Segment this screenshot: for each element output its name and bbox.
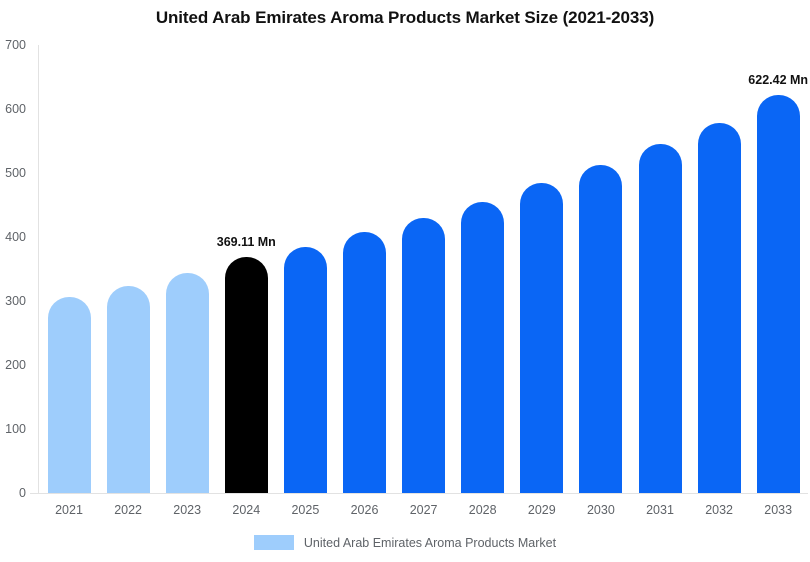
y-axis-tick-label: 600 <box>0 102 26 116</box>
bar-2029[interactable] <box>520 183 563 493</box>
x-axis-tick-label-2027: 2027 <box>410 503 438 517</box>
bar-2021[interactable] <box>48 297 91 493</box>
bar-chart-container: United Arab Emirates Aroma Products Mark… <box>0 0 810 562</box>
x-axis-tick-label-2024: 2024 <box>232 503 260 517</box>
bar-value-label-2024: 369.11 Mn <box>217 235 276 249</box>
x-axis-tick-label-2023: 2023 <box>173 503 201 517</box>
y-axis-tick-label: 0 <box>0 486 26 500</box>
x-axis-line <box>30 493 808 494</box>
chart-title: United Arab Emirates Aroma Products Mark… <box>0 8 810 28</box>
x-axis-tick-label-2021: 2021 <box>55 503 83 517</box>
x-axis-tick-label-2030: 2030 <box>587 503 615 517</box>
chart-legend: United Arab Emirates Aroma Products Mark… <box>0 535 810 550</box>
bar-2028[interactable] <box>461 202 504 493</box>
bar-2032[interactable] <box>698 123 741 493</box>
bar-value-label-2033: 622.42 Mn <box>748 73 808 87</box>
x-axis-tick-label-2029: 2029 <box>528 503 556 517</box>
y-axis-tick-label: 500 <box>0 166 26 180</box>
legend-item-label: United Arab Emirates Aroma Products Mark… <box>304 536 556 550</box>
bar-2031[interactable] <box>639 144 682 493</box>
legend-swatch-icon <box>254 535 294 550</box>
x-axis-tick-label-2033: 2033 <box>764 503 792 517</box>
bar-2027[interactable] <box>402 218 445 493</box>
y-axis-tick-label: 100 <box>0 422 26 436</box>
bar-2026[interactable] <box>343 232 386 493</box>
y-axis-tick-label: 300 <box>0 294 26 308</box>
x-axis-tick-label-2028: 2028 <box>469 503 497 517</box>
y-axis-tick-label: 400 <box>0 230 26 244</box>
plot-area <box>38 45 806 493</box>
bar-2033[interactable] <box>757 95 800 493</box>
x-axis-tick-label-2031: 2031 <box>646 503 674 517</box>
y-axis-tick-label: 200 <box>0 358 26 372</box>
x-axis-tick-label-2032: 2032 <box>705 503 733 517</box>
y-axis-tick-label: 700 <box>0 38 26 52</box>
x-axis-tick-label-2022: 2022 <box>114 503 142 517</box>
x-axis-tick-label-2025: 2025 <box>291 503 319 517</box>
bar-2030[interactable] <box>579 165 622 493</box>
bar-2023[interactable] <box>166 273 209 493</box>
bar-2024[interactable] <box>225 257 268 493</box>
bar-2022[interactable] <box>107 286 150 493</box>
bar-2025[interactable] <box>284 247 327 493</box>
x-axis-tick-label-2026: 2026 <box>351 503 379 517</box>
